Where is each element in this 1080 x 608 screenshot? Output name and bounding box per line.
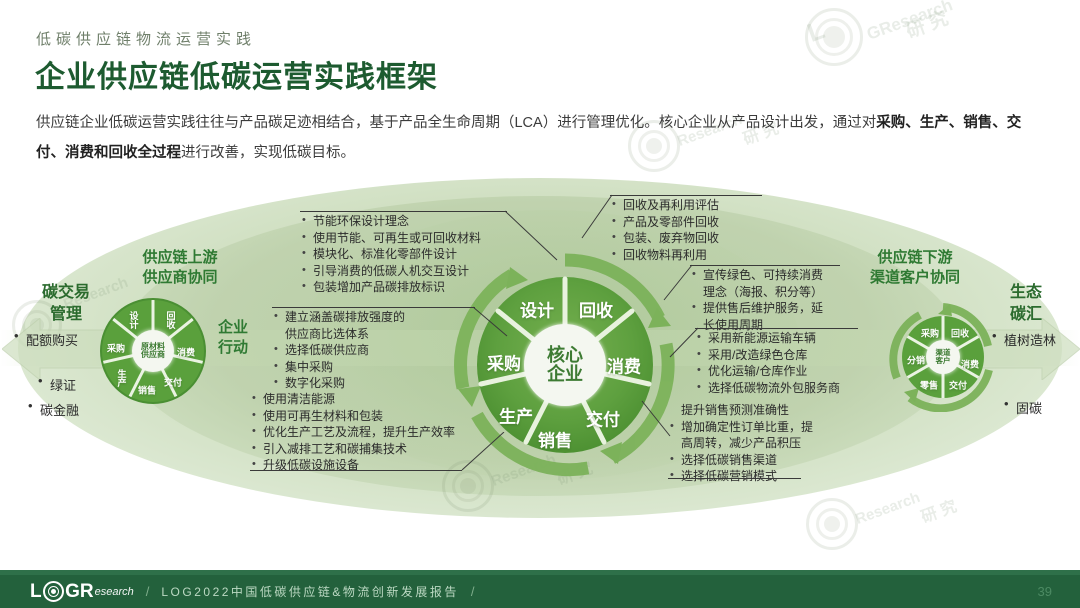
design-list: 节能环保设计理念 使用节能、可再生或可回收材料 模块化、标准化零部件设计 引导消… — [300, 214, 515, 296]
recycle-rule — [610, 195, 762, 196]
watermark-text-1: L — [803, 14, 829, 49]
design-item: 节能环保设计理念 — [300, 214, 515, 230]
delivery-block: 采用新能源运输车辆 采用/改造绿色仓库 优化运输/仓库作业 选择低碳物流外包服务… — [695, 331, 875, 397]
upstream-heading-line1: 供应链上游 — [118, 248, 242, 268]
carbon-trading-item: 绿证 — [36, 375, 76, 394]
delivery-item: 采用/改造绿色仓库 — [695, 348, 875, 364]
production-leader-line — [460, 432, 508, 472]
core-segment-recycle: 回收 — [579, 297, 613, 322]
enterprise-action-line2: 行动 — [218, 338, 248, 358]
upstream-segment-consumption: 消费 — [177, 346, 195, 359]
upstream-wheel: 原材料 供应商 设计 回收 消费 交付 销售 生产 采购 — [100, 298, 206, 404]
core-segment-consumption: 消费 — [607, 353, 641, 378]
watermark-ring-5 — [806, 498, 858, 550]
recycle-item: 包装、废弃物回收 — [610, 231, 780, 247]
carbon-trading-items-3: 碳金融 — [26, 400, 79, 419]
upstream-segment-recycle: 回收 — [165, 311, 178, 329]
procurement-list: 建立涵盖碳排放强度的 供应商比选体系 选择低碳供应商 集中采购 数字化采购 — [272, 310, 472, 392]
consumption-rule — [690, 265, 840, 266]
footer-separator-2: / — [471, 584, 475, 599]
sales-item: 增加确定性订单比重，提 — [668, 420, 848, 436]
target-icon — [43, 581, 64, 602]
eco-carbon-sink-heading: 生态 碳汇 — [988, 282, 1064, 326]
core-hub-line2: 企业 — [547, 365, 583, 384]
upstream-segment-production: 生产 — [116, 369, 129, 387]
page-title: 企业供应链低碳运营实践框架 — [35, 52, 438, 96]
procurement-rule — [272, 307, 475, 308]
enterprise-action-heading: 企业 行动 — [218, 318, 248, 358]
footer-report-title: LOG2022中国低碳供应链&物流创新发展报告 — [161, 583, 459, 600]
downstream-heading-line1: 供应链下游 — [845, 248, 985, 268]
recycle-item: 回收物料再利用 — [610, 248, 780, 264]
eco-carbon-sink-items-2: 固碳 — [1002, 398, 1042, 417]
procurement-item: 数字化采购 — [272, 376, 472, 392]
page-lede: 供应链企业低碳运营实践往往与产品碳足迹相结合，基于产品全生命周期（LCA）进行管… — [36, 108, 1046, 168]
sales-list: 提升销售预测准确性 增加确定性订单比重，提 高周转，减少产品积压 选择低碳销售渠… — [668, 403, 848, 485]
design-rule — [300, 211, 507, 212]
delivery-list: 采用新能源运输车辆 采用/改造绿色仓库 优化运输/仓库作业 选择低碳物流外包服务… — [695, 331, 875, 396]
upstream-segment-design: 设计 — [128, 311, 141, 329]
consumption-item: 提供售后维护服务，延 — [690, 301, 850, 317]
delivery-rule — [695, 328, 858, 329]
procurement-leader-line — [473, 306, 513, 342]
watermark-text-cn-1: 研 究 — [902, 3, 952, 43]
delivery-item: 优化运输/仓库作业 — [695, 364, 875, 380]
watermark-ring-1 — [805, 8, 863, 66]
sales-item: 选择低碳营销模式 — [668, 469, 848, 485]
downstream-segment-distribution: 分销 — [907, 354, 925, 367]
carbon-trading-item: 配额购买 — [12, 330, 78, 349]
carbon-trading-items: 配额购买 — [12, 330, 78, 349]
footer-logo-l: L — [30, 581, 42, 603]
design-item: 包装增加产品碳排放标识 — [300, 280, 515, 296]
downstream-hub-line2: 客户 — [936, 357, 951, 365]
consumption-block: 宣传绿色、可持续消费 理念（海报、积分等） 提供售后维护服务，延 长使用周期 — [690, 268, 850, 334]
upstream-heading-line2: 供应商协同 — [118, 268, 242, 288]
downstream-segment-procurement: 采购 — [921, 327, 939, 340]
procurement-item-cont: 供应商比选体系 — [272, 327, 472, 343]
downstream-segment-retail: 零售 — [920, 379, 938, 392]
downstream-wheel: 渠道 客户 采购 回收 消费 交付 零售 分销 — [888, 302, 998, 412]
page-kicker: 低碳供应链物流运营实践 — [36, 28, 256, 49]
downstream-heading-line2: 渠道客户协同 — [845, 268, 985, 288]
footer-logo: L GR esearch — [30, 581, 134, 603]
sales-item: 选择低碳销售渠道 — [668, 453, 848, 469]
delivery-item: 选择低碳物流外包服务商 — [695, 381, 875, 397]
sales-rule — [668, 478, 801, 479]
eco-carbon-sink-item: 固碳 — [1002, 398, 1042, 417]
footer-separator-1: / — [146, 584, 150, 599]
recycle-item: 产品及零部件回收 — [610, 215, 780, 231]
eco-carbon-sink-items: 植树造林 — [990, 330, 1056, 349]
eco-carbon-sink-item: 植树造林 — [990, 330, 1056, 349]
downstream-segment-delivery: 交付 — [949, 379, 967, 392]
sales-item: 提升销售预测准确性 — [668, 403, 848, 419]
procurement-item: 集中采购 — [272, 360, 472, 376]
sales-item-cont: 高周转，减少产品积压 — [668, 436, 848, 452]
production-item: 使用可再生材料和包装 — [250, 409, 505, 425]
upstream-heading: 供应链上游 供应商协同 — [118, 248, 242, 288]
procurement-item: 选择低碳供应商 — [272, 343, 472, 359]
upstream-segment-sales: 销售 — [138, 384, 156, 397]
footer-page-number: 39 — [1038, 584, 1052, 599]
upstream-hub: 原材料 供应商 — [132, 330, 174, 372]
carbon-trading-item: 碳金融 — [26, 400, 79, 419]
watermark-text-6: Research — [853, 489, 922, 528]
downstream-heading: 供应链下游 渠道客户协同 — [845, 248, 985, 288]
recycle-block: 回收及再利用评估 产品及零部件回收 包装、废弃物回收 回收物料再利用 — [610, 198, 780, 264]
core-hub: 核心 企业 — [524, 324, 606, 406]
core-hub-line1: 核心 — [547, 346, 583, 365]
downstream-segment-consumption: 消费 — [961, 358, 979, 371]
core-segment-procurement: 采购 — [487, 350, 521, 375]
lede-part-1: 供应链企业低碳运营实践往往与产品碳足迹相结合，基于产品全生命周期（LCA）进行管… — [36, 115, 876, 131]
recycle-list: 回收及再利用评估 产品及零部件回收 包装、废弃物回收 回收物料再利用 — [610, 198, 780, 263]
downstream-hub: 渠道 客户 — [926, 340, 960, 374]
core-segment-design: 设计 — [520, 297, 554, 322]
footer-logo-gr: GR — [65, 581, 94, 603]
core-segment-sales: 销售 — [538, 427, 572, 452]
upstream-segment-delivery: 交付 — [164, 376, 182, 389]
upstream-segment-procurement: 采购 — [107, 342, 125, 355]
consumption-list: 宣传绿色、可持续消费 理念（海报、积分等） 提供售后维护服务，延 长使用周期 — [690, 268, 850, 333]
eco-carbon-sink-title-line1: 生态 — [988, 282, 1064, 304]
procurement-block: 建立涵盖碳排放强度的 供应商比选体系 选择低碳供应商 集中采购 数字化采购 — [272, 310, 472, 393]
watermark-text-2: GResearch — [864, 0, 955, 45]
enterprise-action-line1: 企业 — [218, 318, 248, 338]
procurement-item: 建立涵盖碳排放强度的 — [272, 310, 472, 326]
design-item: 模块化、标准化零部件设计 — [300, 247, 515, 263]
watermark-text-cn-4: 研 究 — [917, 492, 959, 527]
upstream-hub-line2: 供应商 — [141, 351, 165, 359]
slide-page: L GResearch 研 究 Research 研 究 Research Re… — [0, 0, 1080, 608]
delivery-item: 采用新能源运输车辆 — [695, 331, 875, 347]
consumption-item: 宣传绿色、可持续消费 — [690, 268, 850, 284]
carbon-trading-items-2: 绿证 — [36, 375, 76, 394]
production-rule — [250, 470, 462, 471]
lede-bold-1: 采购、生 — [876, 115, 934, 131]
recycle-leader-line — [580, 194, 614, 242]
design-item: 引导消费的低碳人机交互设计 — [300, 264, 515, 280]
recycle-item: 回收及再利用评估 — [610, 198, 780, 214]
consumption-item-cont: 理念（海报、积分等） — [690, 285, 850, 301]
footer-logo-research: esearch — [95, 586, 134, 598]
downstream-segment-recycle: 回收 — [951, 327, 969, 340]
core-segment-delivery: 交付 — [586, 406, 620, 431]
lede-part-2: 进行改善，实现低碳目标。 — [181, 145, 355, 161]
design-block: 节能环保设计理念 使用节能、可再生或可回收材料 模块化、标准化零部件设计 引导消… — [300, 214, 515, 297]
eco-carbon-sink-title-line2: 碳汇 — [988, 304, 1064, 326]
sales-block: 提升销售预测准确性 增加确定性订单比重，提 高周转，减少产品积压 选择低碳销售渠… — [668, 403, 848, 486]
production-item: 使用清洁能源 — [250, 392, 505, 408]
footer: L GR esearch / LOG2022中国低碳供应链&物流创新发展报告 /… — [0, 575, 1080, 608]
design-item: 使用节能、可再生或可回收材料 — [300, 231, 515, 247]
